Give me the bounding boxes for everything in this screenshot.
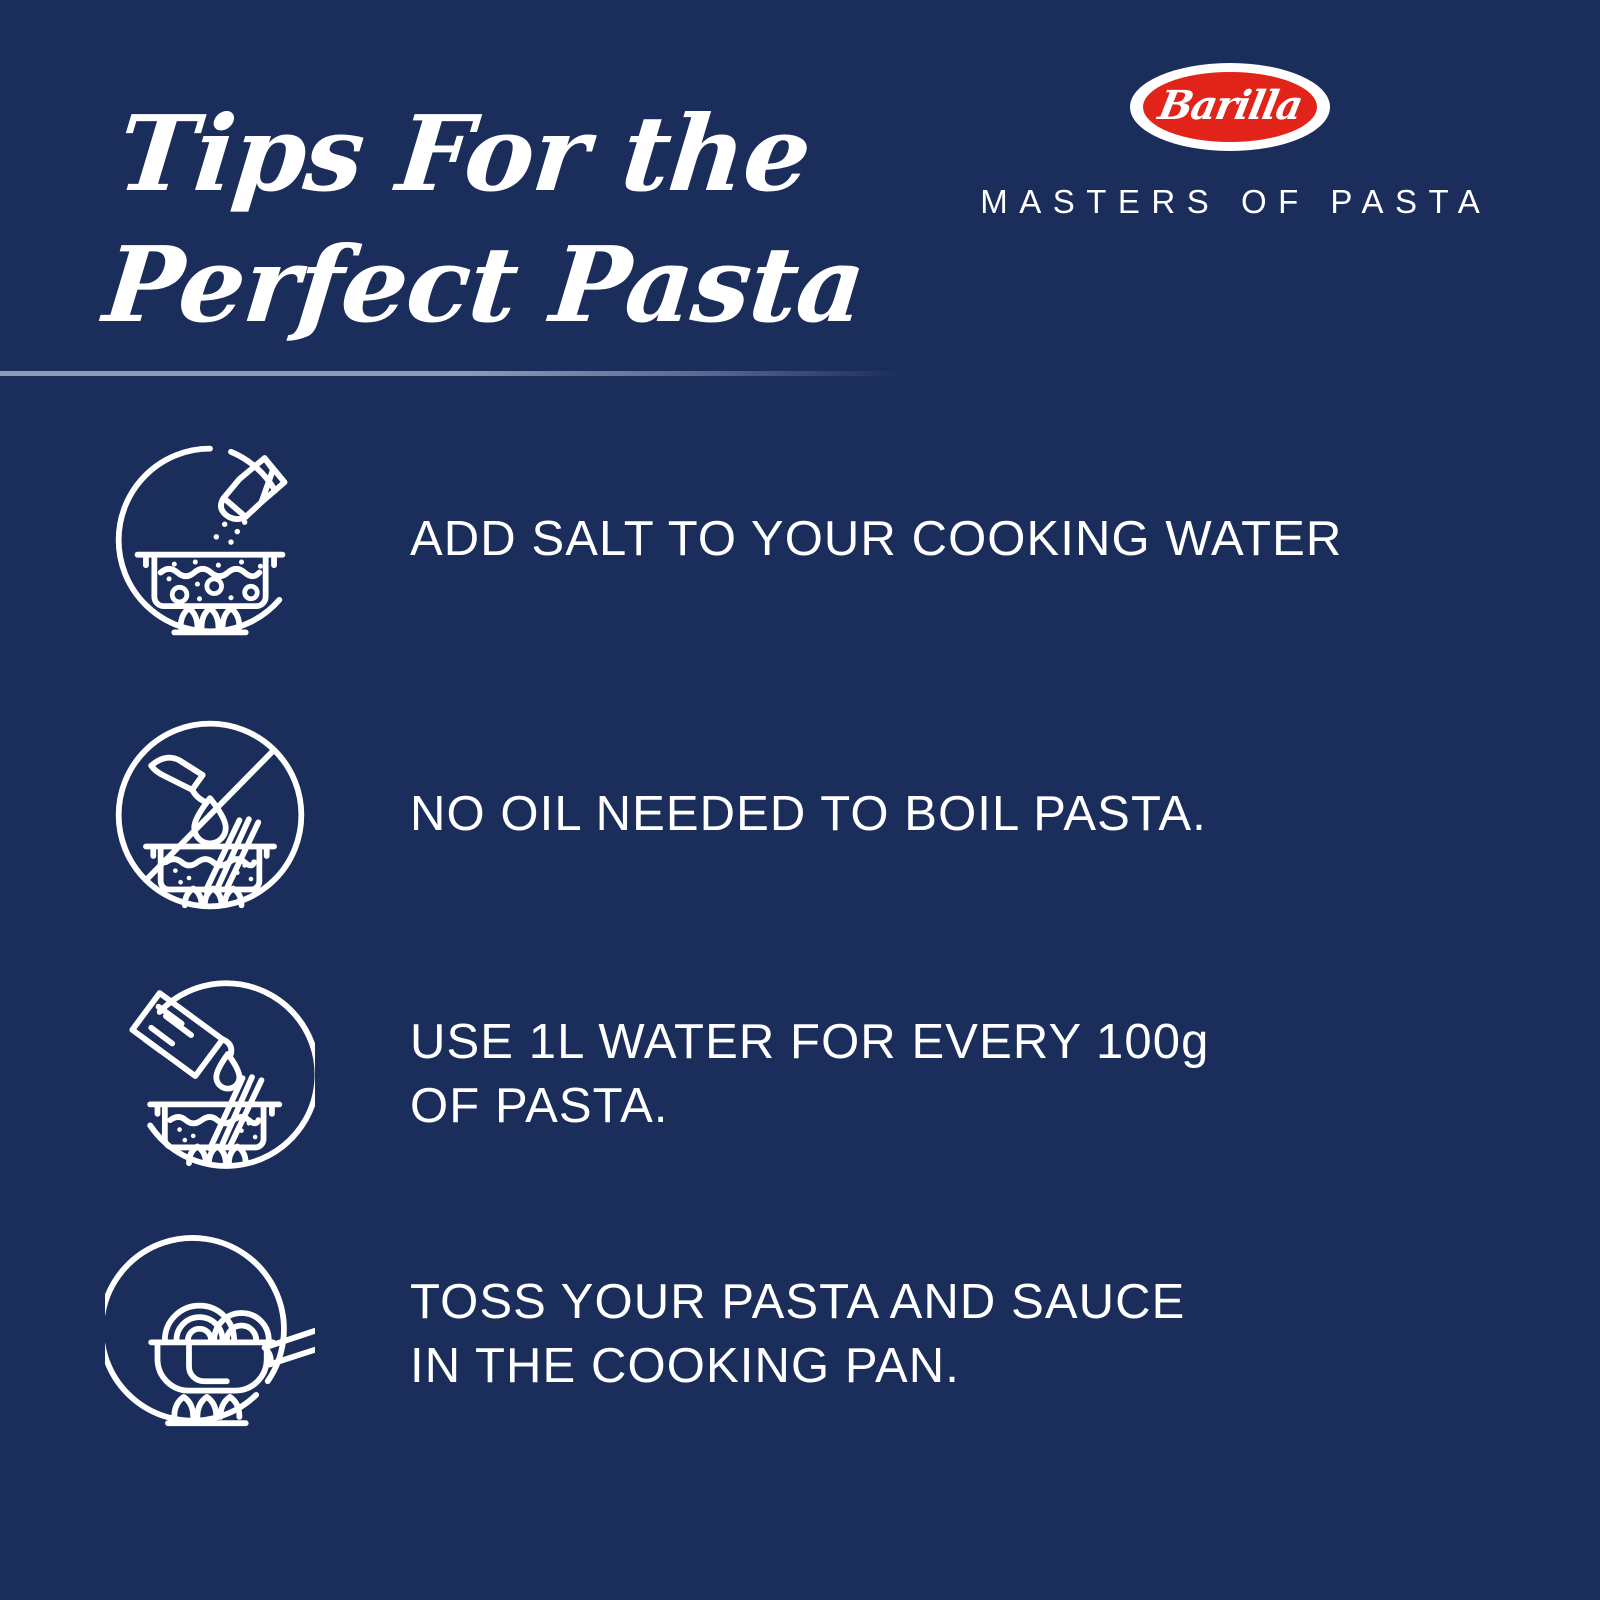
page-title-line-1: Tips For the [112, 88, 886, 219]
tip-text: TOSS YOUR PASTA AND SAUCE IN THE COOKING… [410, 1271, 1600, 1398]
tip-text: ADD SALT TO YOUR COOKING WATER [410, 508, 1600, 572]
barilla-wordmark: Barilla [1126, 86, 1334, 126]
tip-text: NO OIL NEEDED TO BOIL PASTA. [410, 783, 1600, 847]
brand-tagline: MASTERS OF PASTA [940, 183, 1520, 221]
no-oil-pot-icon [105, 710, 315, 920]
pasta-pan-icon [105, 1230, 315, 1440]
tip-row: ADD SALT TO YOUR COOKING WATER [0, 435, 1600, 645]
pasta-tips-poster: Tips For the Perfect Pasta Barilla MASTE… [0, 0, 1600, 1600]
page-title: Tips For the Perfect Pasta [98, 88, 886, 350]
brand-lockup: Barilla MASTERS OF PASTA [940, 55, 1520, 221]
header-divider [0, 371, 900, 376]
salt-pouch-pot-icon [105, 435, 315, 645]
tip-row: TOSS YOUR PASTA AND SAUCE IN THE COOKING… [0, 1230, 1600, 1440]
barilla-logo-icon: Barilla [1130, 63, 1330, 151]
tip-row: NO OIL NEEDED TO BOIL PASTA. [0, 710, 1600, 920]
tip-text: USE 1L WATER FOR EVERY 100g OF PASTA. [410, 1011, 1600, 1138]
page-title-line-2: Perfect Pasta [98, 219, 872, 350]
tip-row: USE 1L WATER FOR EVERY 100g OF PASTA. [0, 970, 1600, 1180]
measuring-jug-pot-icon [105, 970, 315, 1180]
